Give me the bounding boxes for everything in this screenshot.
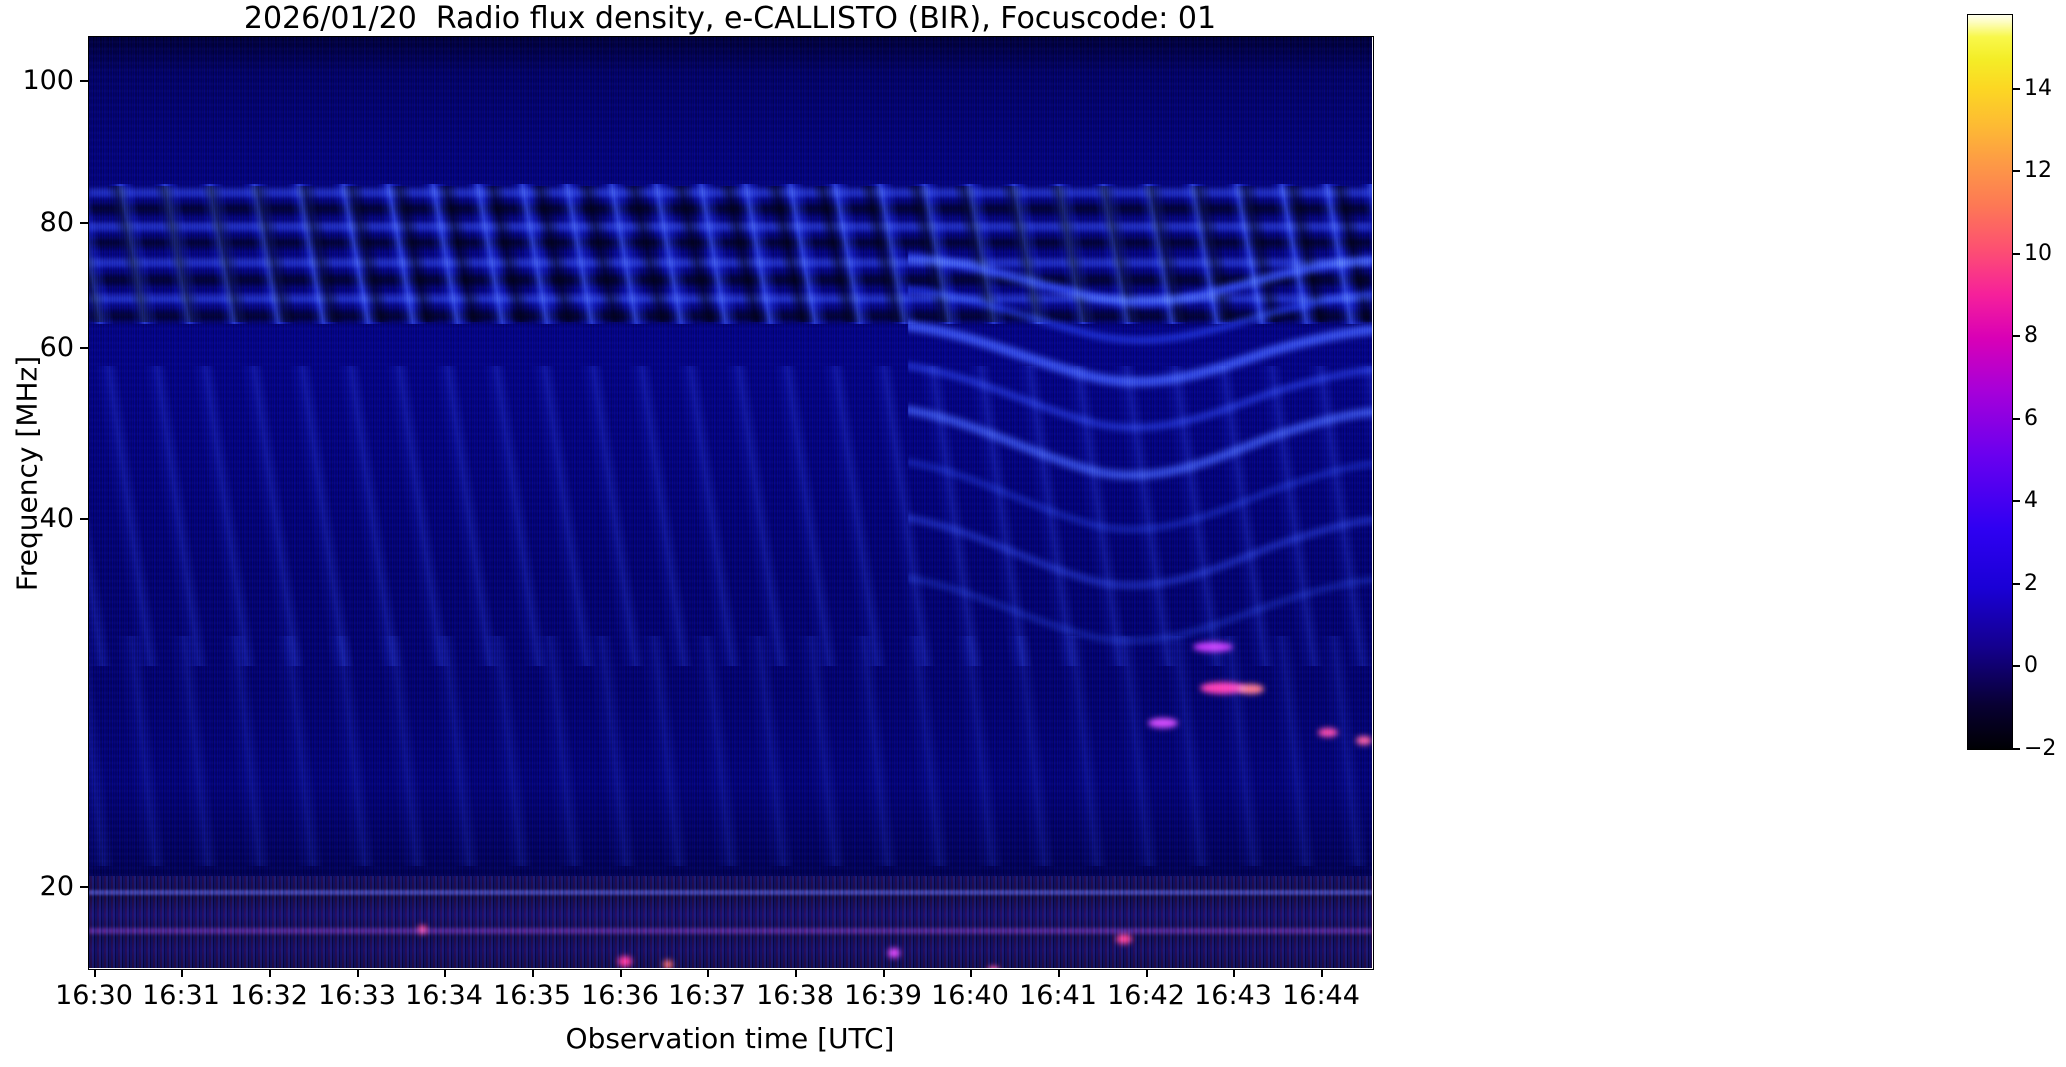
x-tick-label: 16:44 [1256,981,1386,1011]
rfi-hotspot [1356,736,1372,745]
colorbar-tick-mark [2012,418,2020,420]
x-tick-mark [181,969,183,977]
x-axis-label: Observation time [UTC] [88,1022,1372,1055]
rfi-hotspot [1318,728,1338,737]
rfi-hotspot [1148,718,1178,728]
x-tick-mark [1058,969,1060,977]
colorbar-tick-mark [2012,583,2020,585]
y-tick-label: 60 [10,334,74,361]
colorbar-tick-label: 10 [2024,243,2052,265]
colorbar-tick-label: 6 [2024,408,2038,430]
spectrogram-vertical-noise-layer [88,36,1372,968]
x-tick-mark [970,969,972,977]
x-tick-mark [269,969,271,977]
y-tick-label: 40 [10,505,74,532]
rfi-hotspot [1116,934,1132,944]
rfi-bright-line-lower [88,928,1372,934]
colorbar-tick-mark [2012,335,2020,337]
x-tick-mark [444,969,446,977]
x-tick-mark [1146,969,1148,977]
colorbar-tick-mark [2012,253,2020,255]
x-tick-mark [620,969,622,977]
colorbar-tick-mark [2012,170,2020,172]
rfi-hotspot [1238,684,1264,694]
y-tick-mark [80,80,88,82]
chart-title: 2026/01/20 Radio flux density, e-CALLIST… [88,2,1372,36]
y-tick-label: 80 [10,209,74,236]
rfi-hotspot [663,960,673,968]
rfi-hotspot [888,948,900,958]
x-tick-mark [1233,969,1235,977]
rfi-hotspot [988,966,999,968]
spectrogram-image[interactable] [88,36,1372,968]
y-tick-mark [80,222,88,224]
colorbar-tick-label: 0 [2024,655,2038,677]
colorbar-tick-label: 2 [2024,573,2038,595]
y-tick-mark [80,518,88,520]
rfi-hotspot [418,925,427,934]
colorbar-tick-mark [2012,748,2020,750]
y-tick-label: 100 [10,67,74,94]
x-tick-mark [94,969,96,977]
x-tick-mark [707,969,709,977]
figure-canvas: 2026/01/20 Radio flux density, e-CALLIST… [0,0,2066,1067]
colorbar-tick-mark [2012,665,2020,667]
x-tick-mark [532,969,534,977]
colorbar-tick-label: −2 [2024,738,2056,760]
rfi-bright-line-upper [88,890,1372,895]
y-tick-mark [80,886,88,888]
x-tick-mark [1321,969,1323,977]
x-tick-mark [357,969,359,977]
rfi-hotspot [1193,642,1233,652]
colorbar-tick-label: 8 [2024,325,2038,347]
colorbar-tick-label: 14 [2024,78,2052,100]
y-axis-label: Frequency [MHz] [11,239,44,709]
colorbar-tick-mark [2012,88,2020,90]
rfi-hotspot [618,956,632,967]
colorbar-tick-label: 4 [2024,490,2038,512]
colorbar-tick-label: 12 [2024,160,2052,182]
colorbar-tick-mark [2012,500,2020,502]
x-tick-mark [795,969,797,977]
y-tick-mark [80,347,88,349]
colorbar[interactable] [1967,14,2013,750]
x-tick-mark [883,969,885,977]
y-tick-label: 20 [10,873,74,900]
